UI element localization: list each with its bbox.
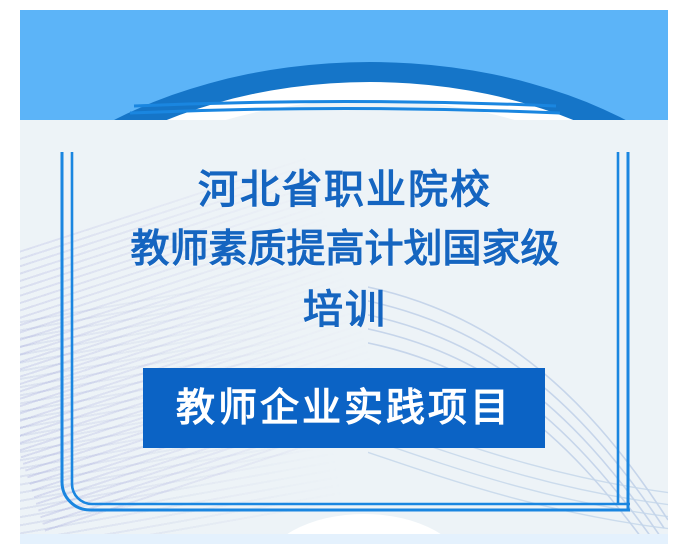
program-banner: 教师企业实践项目 bbox=[143, 368, 545, 448]
page-title: 河北省职业院校 教师素质提高计划国家级 培训 bbox=[64, 160, 626, 340]
title-line-1: 河北省职业院校 bbox=[64, 160, 626, 220]
title-line-2: 教师素质提高计划国家级 bbox=[64, 220, 626, 280]
poster-canvas: 河北省职业院校 教师素质提高计划国家级 培训 教师企业实践项目 bbox=[0, 0, 688, 544]
bottom-white-hump bbox=[264, 514, 464, 534]
program-banner-label: 教师企业实践项目 bbox=[176, 389, 512, 428]
title-line-3: 培训 bbox=[64, 280, 626, 340]
